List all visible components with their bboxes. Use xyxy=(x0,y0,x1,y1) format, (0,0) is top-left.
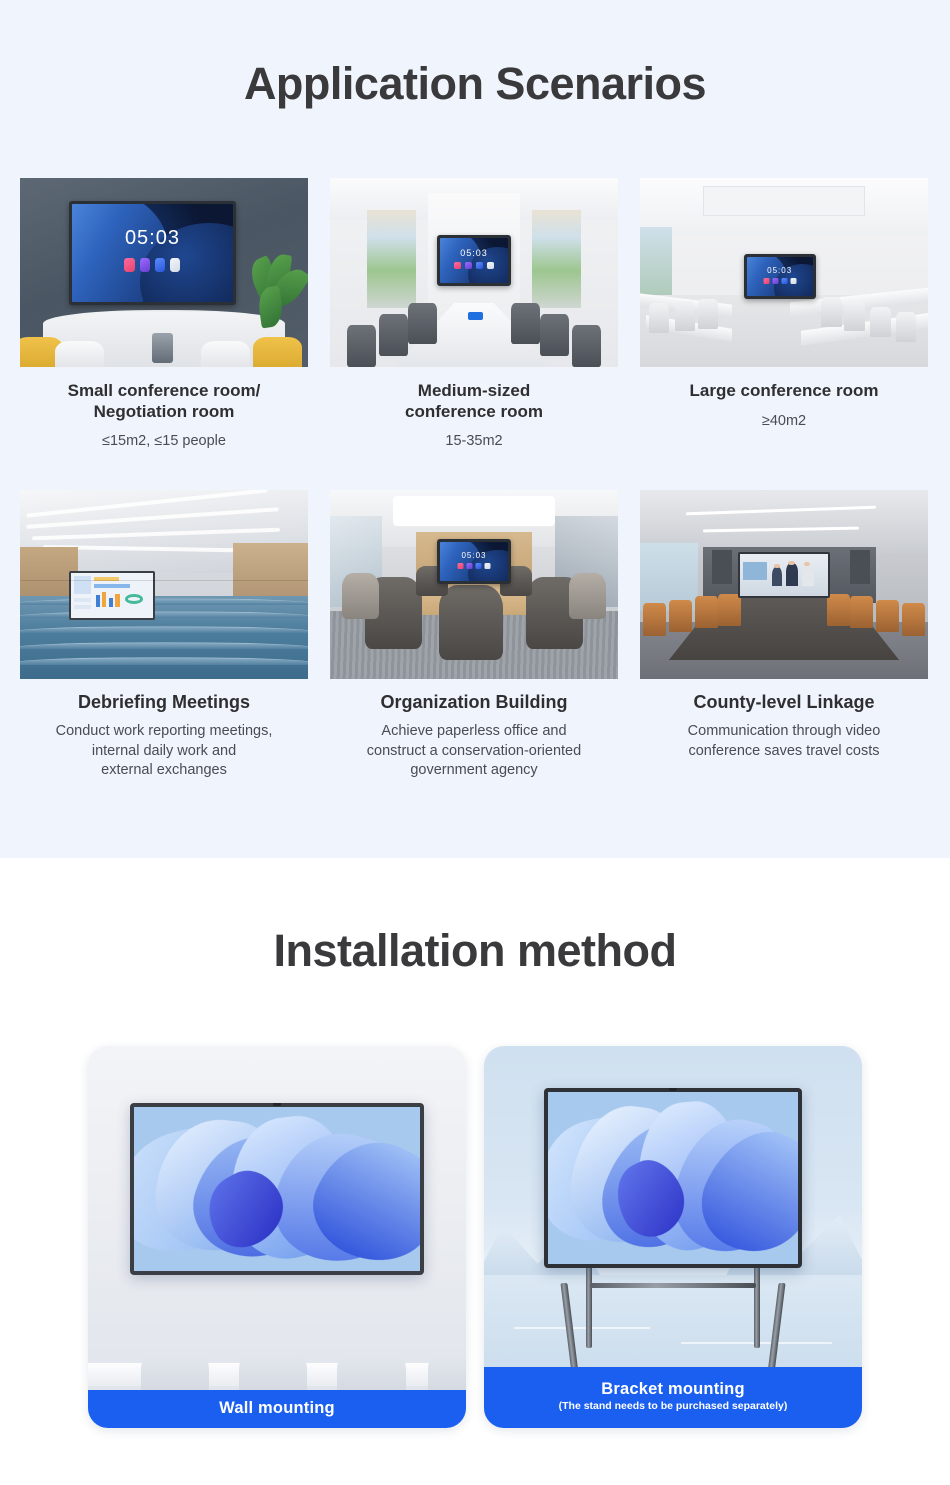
scenario-card-medium-conference-room[interactable]: 05:03 Medium-sized conference room 15-35… xyxy=(330,178,618,452)
panel-clock-2: 05:03 xyxy=(440,248,509,258)
scenario-card-subtitle: ≤15m2, ≤15 people xyxy=(20,432,308,452)
scenario-card-heading: Small conference room/ Negotiation room xyxy=(20,381,308,422)
scenario-card-small-conference-room[interactable]: 05:03 Small conference room/ Negotiation… xyxy=(20,178,308,452)
scenario-card-heading: Large conference room xyxy=(640,381,928,402)
medium-conference-room-photo: 05:03 xyxy=(330,178,618,367)
scenario-card-large-conference-room[interactable]: 05:03 Large conference room ≥40m2 xyxy=(640,178,928,452)
scenario-card-debriefing-meetings[interactable]: Debriefing Meetings Conduct work reporti… xyxy=(20,490,308,781)
scenario-card-heading: Medium-sized conference room xyxy=(330,381,618,422)
application-scenarios-section: Application Scenarios xyxy=(0,0,950,858)
scenario-card-heading: Debriefing Meetings xyxy=(20,692,308,714)
scenario-card-subtitle: Achieve paperless office and construct a… xyxy=(330,722,618,781)
scenario-card-subtitle: Conduct work reporting meetings, interna… xyxy=(20,722,308,781)
boardroom-photo: 05:03 xyxy=(330,490,618,679)
panel-clock-1: 05:03 xyxy=(72,227,233,250)
installation-label-text: Wall mounting xyxy=(94,1399,460,1418)
scenario-card-heading: County-level Linkage xyxy=(640,692,928,714)
installation-cards-row: Wall mounting xyxy=(88,1046,862,1428)
auditorium-photo xyxy=(20,490,308,679)
large-conference-room-photo: 05:03 xyxy=(640,178,928,367)
page-title-application-scenarios: Application Scenarios xyxy=(0,58,950,110)
video-conference-room-photo xyxy=(640,490,928,679)
scenario-card-subtitle: ≥40m2 xyxy=(640,412,928,432)
scenario-card-subtitle: 15-35m2 xyxy=(330,432,618,452)
installation-label-text: Bracket mounting xyxy=(490,1380,856,1399)
panel-clock-3: 05:03 xyxy=(747,266,813,275)
scenario-card-organization-building[interactable]: 05:03 Organization Building Achieve pape… xyxy=(330,490,618,781)
wall-mounted-display-photo xyxy=(88,1046,466,1428)
installation-card-wall-mounting[interactable]: Wall mounting xyxy=(88,1046,466,1428)
installation-label-bracket-mounting: Bracket mounting (The stand needs to be … xyxy=(484,1367,862,1428)
scenario-grid-row-1: 05:03 Small conference room/ Negotiation… xyxy=(20,178,930,452)
page-title-installation-method: Installation method xyxy=(0,925,950,977)
installation-label-wall-mounting: Wall mounting xyxy=(88,1390,466,1428)
small-conference-room-photo: 05:03 xyxy=(20,178,308,367)
panel-clock-5: 05:03 xyxy=(440,551,509,560)
scenario-card-county-level-linkage[interactable]: County-level Linkage Communication throu… xyxy=(640,490,928,781)
scenario-card-subtitle: Communication through video conference s… xyxy=(640,722,928,761)
installation-card-bracket-mounting[interactable]: Bracket mounting (The stand needs to be … xyxy=(484,1046,862,1428)
installation-label-note: (The stand needs to be purchased separat… xyxy=(490,1400,856,1412)
scenario-grid-row-2: Debriefing Meetings Conduct work reporti… xyxy=(20,490,930,781)
scenario-card-heading: Organization Building xyxy=(330,692,618,714)
